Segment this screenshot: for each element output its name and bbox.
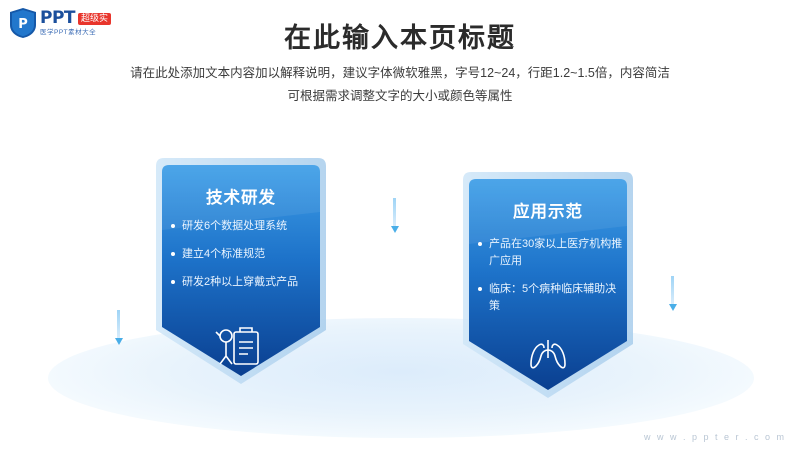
- list-item: 临床：5个病种临床辅助决策: [477, 281, 623, 315]
- card-title: 应用示范: [455, 198, 641, 222]
- card-technology-rd[interactable]: 技术研发 研发6个数据处理系统 建立4个标准规范 研发2种以上穿戴式产品: [148, 152, 334, 392]
- list-item: 建立4个标准规范: [170, 246, 316, 263]
- list-item: 研发2种以上穿戴式产品: [170, 274, 316, 291]
- lungs-icon: [455, 334, 641, 380]
- list-item: 产品在30家以上医疗机构推广应用: [477, 236, 623, 270]
- list-item: 研发6个数据处理系统: [170, 218, 316, 235]
- card-bullet-list: 产品在30家以上医疗机构推广应用 临床：5个病种临床辅助决策: [477, 236, 623, 326]
- marker-left: [114, 310, 123, 345]
- footer-watermark: w w w . p p t e r . c o m: [644, 432, 786, 442]
- slide-canvas: P PPT 超级实 医学PPT素材大全 在此输入本页标题 请在此处添加文本内容加…: [0, 0, 800, 450]
- page-subtitle: 请在此处添加文本内容加以解释说明，建议字体微软雅黑，字号12~24，行距1.2~…: [0, 62, 800, 108]
- card-bullet-list: 研发6个数据处理系统 建立4个标准规范 研发2种以上穿戴式产品: [170, 218, 316, 302]
- subtitle-line-2: 可根据需求调整文字的大小或颜色等属性: [0, 85, 800, 108]
- clipboard-research-icon: [148, 322, 334, 372]
- card-title: 技术研发: [148, 184, 334, 208]
- page-title: 在此输入本页标题: [0, 16, 800, 55]
- marker-right: [668, 276, 677, 311]
- card-application-demo[interactable]: 应用示范 产品在30家以上医疗机构推广应用 临床：5个病种临床辅助决策: [455, 166, 641, 406]
- subtitle-line-1: 请在此处添加文本内容加以解释说明，建议字体微软雅黑，字号12~24，行距1.2~…: [0, 62, 800, 85]
- marker-center: [390, 198, 399, 233]
